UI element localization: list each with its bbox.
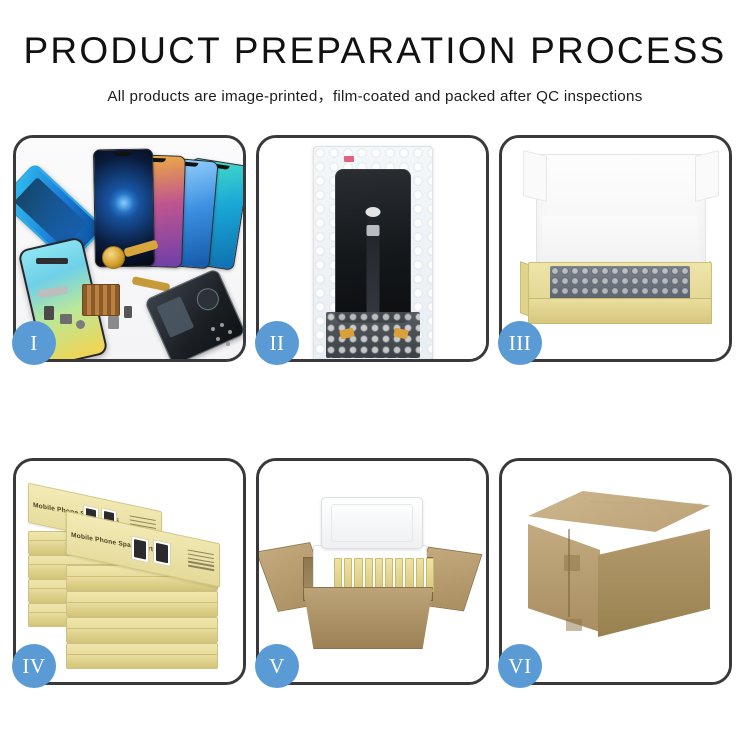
page-title: PRODUCT PREPARATION PROCESS [0, 32, 750, 71]
small-part-icon [124, 306, 132, 318]
foam-insert-icon [313, 545, 427, 593]
carton-right-face [598, 529, 710, 637]
page-subtitle: All products are image-printed，film-coat… [0, 84, 750, 106]
step-image-6 [502, 461, 729, 682]
step-panel-4: Mobile Phone Spare Parts Mo [13, 458, 246, 685]
step-badge-1: I [12, 321, 56, 365]
connector-icon [366, 225, 379, 236]
step-badge-2: II [255, 321, 299, 365]
box-label-thumbnail [131, 535, 149, 563]
steps-grid: I II [13, 135, 732, 685]
stacked-box [66, 617, 218, 643]
step-badge-6: VI [498, 644, 542, 688]
phone-fan-group [68, 152, 243, 267]
carton-left-face [528, 524, 600, 632]
step-image-2 [259, 138, 486, 359]
box-stack-group: Mobile Phone Spare Parts Mo [26, 483, 234, 673]
step-panel-3: III [499, 135, 732, 362]
bubble-wrap-bag-icon [313, 146, 433, 359]
copper-coil-part-icon [102, 246, 125, 269]
carton-front-icon [303, 587, 433, 649]
step-image-5 [259, 461, 486, 682]
carton-tab [564, 555, 580, 571]
small-part-icon [108, 316, 119, 329]
product-preparation-infographic: PRODUCT PREPARATION PROCESS All products… [0, 0, 750, 750]
step-badge-3: III [498, 321, 542, 365]
step-image-1 [16, 138, 243, 359]
step-image-3 [502, 138, 729, 359]
stacked-box [66, 591, 218, 617]
step-panel-1: I [13, 135, 246, 362]
box-front-panel-icon [528, 298, 712, 324]
carton-tab [566, 619, 582, 631]
box-label-lines [188, 550, 215, 574]
pink-label-icon [344, 156, 354, 162]
connector-icon [365, 207, 380, 217]
small-part-icon [44, 306, 54, 320]
flex-cable-part-icon [132, 276, 171, 292]
speaker-part-icon [36, 258, 68, 264]
stacked-box [66, 643, 218, 669]
carton-seam [568, 529, 570, 617]
step-badge-5: V [255, 644, 299, 688]
screws-group-icon [211, 323, 237, 349]
step-panel-5: V [256, 458, 489, 685]
step-panel-6: VI [499, 458, 732, 685]
step-image-4: Mobile Phone Spare Parts Mo [16, 461, 243, 682]
step-badge-4: IV [12, 644, 56, 688]
step-panel-2: II [256, 135, 489, 362]
small-part-icon [76, 320, 85, 329]
bubble-wrap-fill-icon [550, 266, 690, 300]
chip-grid-part-icon [82, 284, 120, 316]
small-part-icon [60, 314, 72, 324]
header: PRODUCT PREPARATION PROCESS All products… [0, 0, 750, 106]
carton-group [299, 539, 439, 649]
box-label-thumbnail [153, 539, 171, 567]
shipping-carton-icon [528, 491, 710, 651]
foam-lid-icon [321, 497, 423, 549]
yellow-boxes-inside [334, 558, 434, 592]
